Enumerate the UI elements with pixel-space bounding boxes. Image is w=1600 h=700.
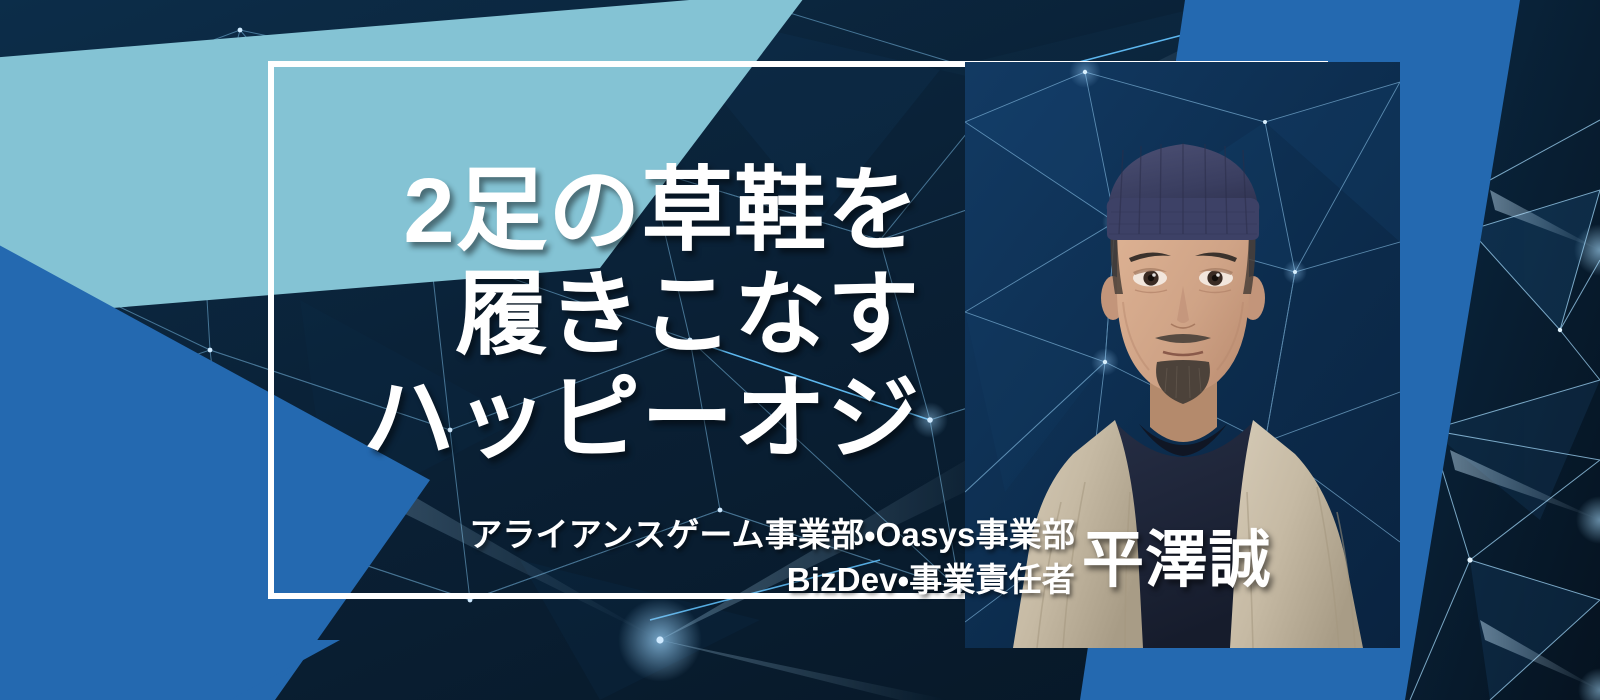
subtitle-line-2: BizDev・事業責任者 [0, 557, 1075, 602]
person-name: 平澤誠 [1082, 530, 1272, 592]
subtitle-role: アライアンスゲーム事業部・Oasys事業部 BizDev・事業責任者 [0, 512, 1075, 602]
subtitle-line-1: アライアンスゲーム事業部・Oasys事業部 [0, 512, 1075, 557]
headline-line-2: 履きこなす [0, 264, 920, 368]
interview-banner: 2足の草鞋を 履きこなす ハッピーオジ アライアンスゲーム事業部・Oasys事業… [0, 0, 1600, 700]
headline: 2足の草鞋を 履きこなす ハッピーオジ [0, 160, 950, 472]
headline-line-3: ハッピーオジ [0, 368, 920, 472]
headline-line-1: 2足の草鞋を [0, 160, 920, 264]
